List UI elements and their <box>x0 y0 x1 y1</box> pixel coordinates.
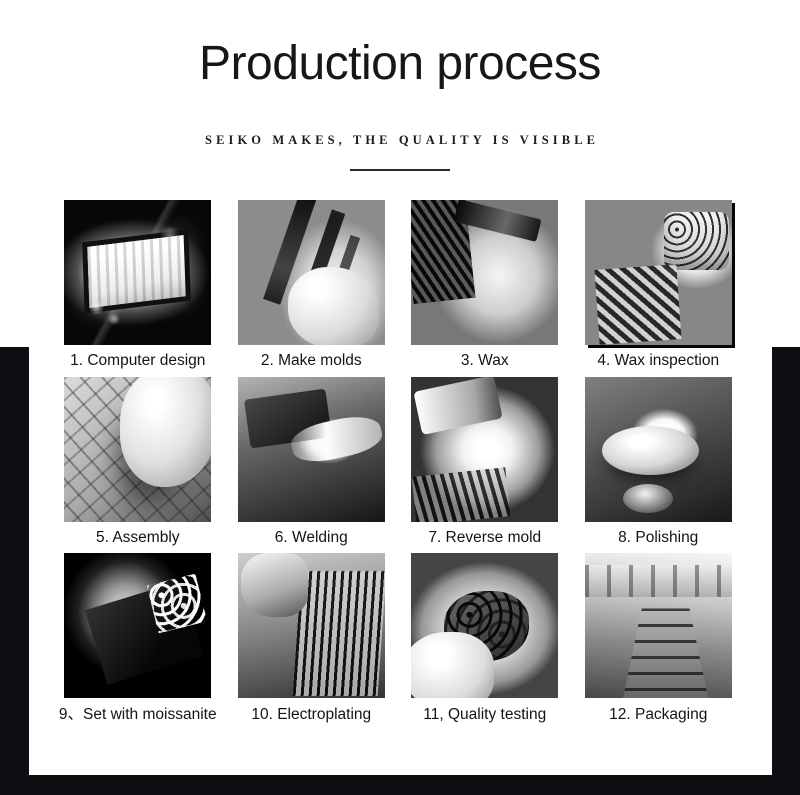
process-step-12-label: 12. Packaging <box>609 706 707 725</box>
process-step-2: 2. Make molds <box>225 200 399 371</box>
process-step-5: 5. Assembly <box>51 377 225 548</box>
process-step-1: 1. Computer design <box>51 200 225 371</box>
process-step-7: 7. Reverse mold <box>398 377 572 548</box>
process-step-2-label: 2. Make molds <box>261 352 362 371</box>
process-step-11: 11, Quality testing <box>398 553 572 725</box>
process-step-3-label: 3. Wax <box>461 352 509 371</box>
process-step-10: 10. Electroplating <box>225 553 399 725</box>
process-step-6-label: 6. Welding <box>275 529 348 548</box>
process-step-4-label: 4. Wax inspection <box>597 352 719 371</box>
title-divider <box>350 169 450 171</box>
welding-photo <box>238 377 385 522</box>
process-step-5-label: 5. Assembly <box>96 529 180 548</box>
process-step-12: 12. Packaging <box>572 553 746 725</box>
subtitle-tagline: SEIKO MAKES, THE QUALITY IS VISIBLE <box>45 133 755 148</box>
electroplating-photo <box>238 553 385 698</box>
make-molds-photo <box>238 200 385 345</box>
process-step-1-label: 1. Computer design <box>70 352 205 371</box>
frame-bar-left <box>0 347 29 795</box>
content-card: Production process SEIKO MAKES, THE QUAL… <box>45 0 755 775</box>
process-step-11-label: 11, Quality testing <box>423 706 546 725</box>
computer-design-photo <box>64 200 211 345</box>
process-step-4: 4. Wax inspection <box>572 200 746 371</box>
header: Production process SEIKO MAKES, THE QUAL… <box>45 0 755 171</box>
assembly-photo <box>64 377 211 522</box>
page-title: Production process <box>45 36 755 91</box>
process-step-8-label: 8. Polishing <box>618 529 698 548</box>
frame-bar-right <box>772 347 800 795</box>
frame-bar-bottom <box>0 775 800 795</box>
process-step-9-label: 9、Set with moissanite <box>59 706 217 725</box>
process-step-grid: 1. Computer design 2. Make molds 3. Wax … <box>45 200 755 725</box>
process-step-7-label: 7. Reverse mold <box>428 529 541 548</box>
wax-photo <box>411 200 558 345</box>
process-step-6: 6. Welding <box>225 377 399 548</box>
packaging-photo <box>585 553 732 698</box>
wax-inspection-photo <box>585 200 732 345</box>
process-step-8: 8. Polishing <box>572 377 746 548</box>
process-step-3: 3. Wax <box>398 200 572 371</box>
process-step-9: 9、Set with moissanite <box>51 553 225 725</box>
quality-testing-photo <box>411 553 558 698</box>
polishing-photo <box>585 377 732 522</box>
reverse-mold-photo <box>411 377 558 522</box>
set-with-moissanite-photo <box>64 553 211 698</box>
process-step-10-label: 10. Electroplating <box>251 706 371 725</box>
